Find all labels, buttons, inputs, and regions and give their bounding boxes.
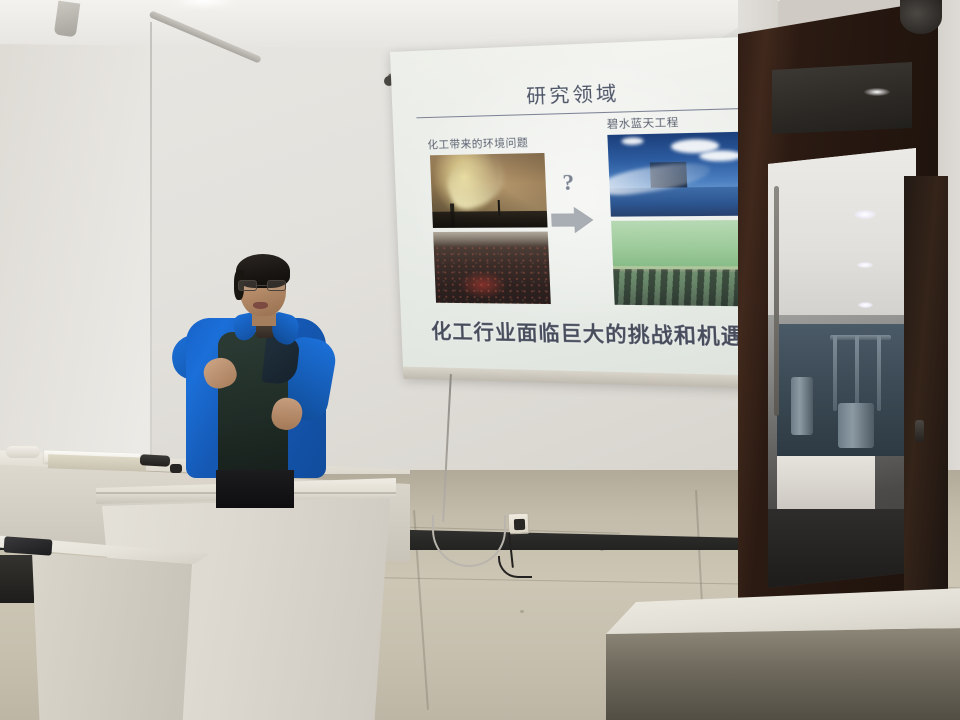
door-leaf-right[interactable]: [904, 176, 948, 626]
presenter: [168, 258, 338, 488]
photo-polluted-red-field: [433, 232, 551, 304]
slide-label-right: 碧水蓝天工程: [607, 114, 680, 132]
lab-equipment: [777, 324, 916, 456]
door-knob-icon[interactable]: [915, 420, 924, 442]
door-handle[interactable]: [774, 186, 779, 416]
right-arrow-icon: [551, 206, 595, 233]
door-transom-window: [772, 62, 912, 134]
slide-label-left: 化工带来的环境问题: [427, 135, 528, 153]
photo-blue-sky-plant: [607, 132, 750, 217]
slide-caption: 化工行业面临巨大的挑战和机遇: [417, 315, 761, 351]
slide-title: 研究领域: [407, 73, 750, 112]
wall-outlet[interactable]: [508, 513, 530, 535]
ceiling-duct-icon: [54, 1, 81, 38]
presentation-slide: 研究领域 化工带来的环境问题 碧水蓝天工程: [406, 52, 761, 367]
photo-green-field-rows: [611, 220, 754, 306]
glasses-icon: [238, 280, 286, 291]
adjacent-room-counter: [777, 456, 875, 513]
adjacent-room-ceiling: [768, 148, 916, 315]
glass-door-assembly[interactable]: [738, 0, 938, 640]
desk-remote[interactable]: [140, 454, 171, 467]
presenter-legs: [216, 470, 294, 508]
presenter-mouth: [253, 302, 268, 309]
door-glass-panel: [768, 148, 916, 588]
mobile-phone[interactable]: [4, 536, 53, 555]
projection-screen: 研究领域 化工带来的环境问题 碧水蓝天工程: [390, 36, 779, 389]
ceiling-speaker-icon: [900, 0, 942, 34]
photo-smokestack-pollution: [430, 153, 548, 228]
lecture-room-scene: 研究领域 化工带来的环境问题 碧水蓝天工程: [0, 0, 960, 720]
right-desk: [606, 588, 960, 720]
question-mark-icon: ?: [562, 169, 575, 196]
desk-object-mouse[interactable]: [6, 446, 40, 458]
transom-light-reflection: [864, 88, 890, 96]
